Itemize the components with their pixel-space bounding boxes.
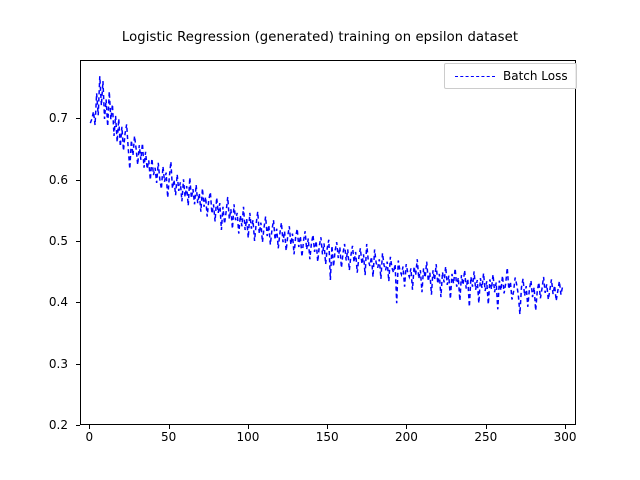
y-tick-mark (76, 425, 80, 426)
batch-loss-line (90, 76, 562, 314)
y-tick-label: 0.3 (8, 357, 68, 371)
x-tick-mark (327, 425, 328, 429)
y-tick-label: 0.7 (8, 111, 68, 125)
x-tick-label: 300 (535, 430, 595, 444)
x-tick-mark (406, 425, 407, 429)
chart-title: Logistic Regression (generated) training… (0, 30, 640, 45)
x-tick-label: 50 (139, 430, 199, 444)
x-tick-label: 100 (218, 430, 278, 444)
legend-line-swatch (455, 76, 495, 77)
x-tick-mark (169, 425, 170, 429)
x-tick-mark (486, 425, 487, 429)
plot-axes-frame (80, 60, 576, 425)
matplotlib-figure: Logistic Regression (generated) training… (0, 0, 640, 480)
x-tick-label: 0 (59, 430, 119, 444)
x-tick-mark (248, 425, 249, 429)
x-tick-mark (565, 425, 566, 429)
x-tick-label: 250 (456, 430, 516, 444)
x-tick-label: 200 (376, 430, 436, 444)
x-tick-label: 150 (297, 430, 357, 444)
y-tick-label: 0.5 (8, 234, 68, 248)
y-tick-label: 0.6 (8, 173, 68, 187)
legend-label-batch-loss: Batch Loss (503, 69, 568, 83)
legend-box[interactable]: Batch Loss (444, 63, 577, 89)
y-tick-label: 0.4 (8, 295, 68, 309)
x-tick-mark (89, 425, 90, 429)
loss-curve-svg (81, 61, 575, 424)
